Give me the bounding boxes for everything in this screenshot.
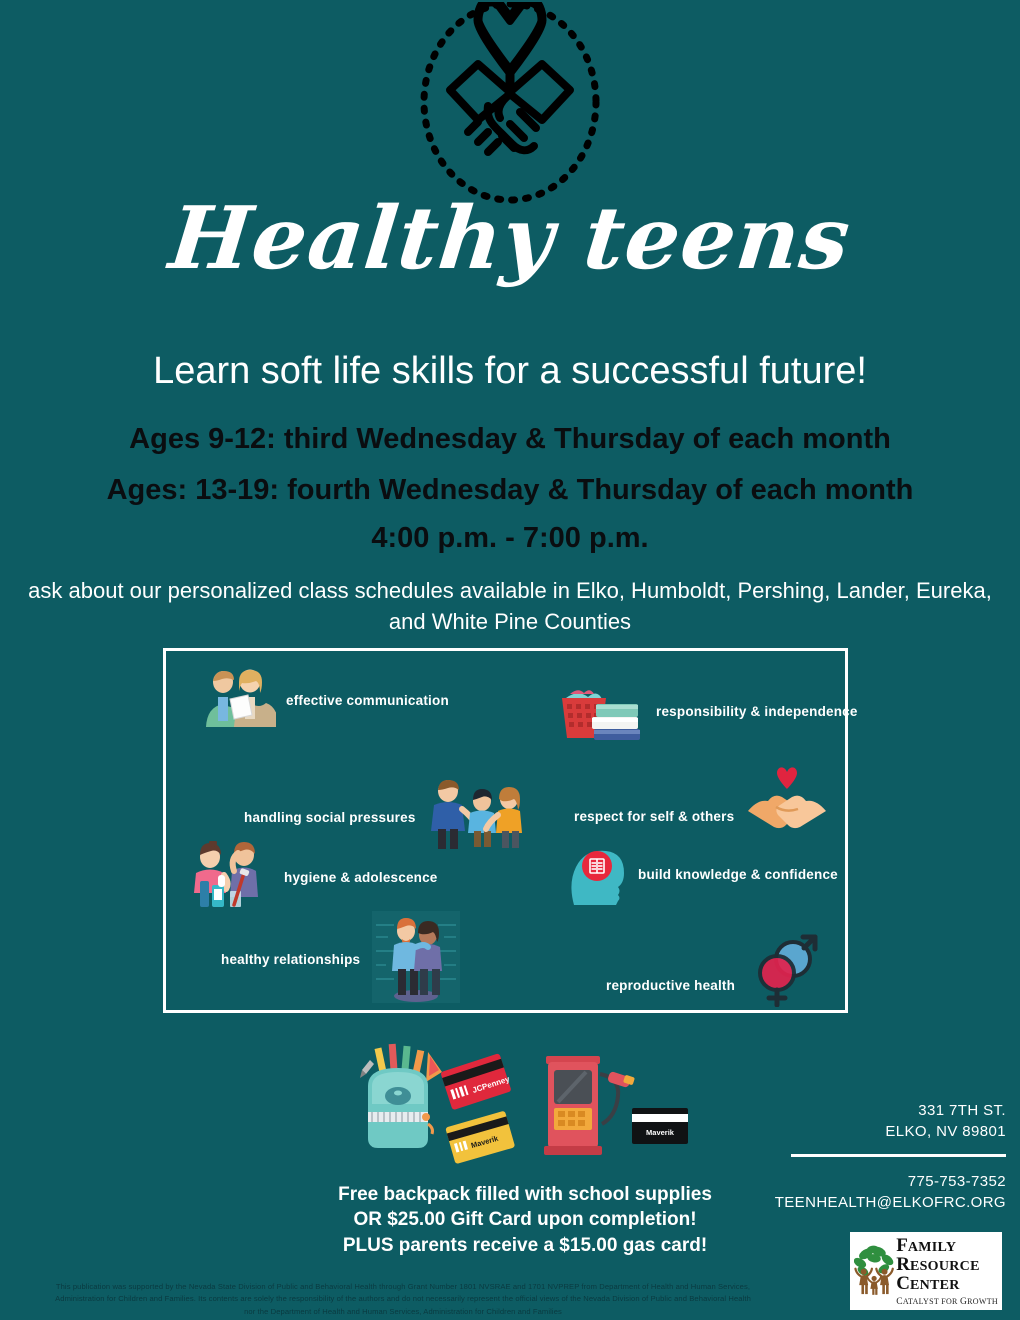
street-address: 331 7TH ST.	[746, 1100, 1006, 1121]
head-with-book-brain-icon	[564, 839, 626, 910]
disclaimer-line-2: Administration for Children and Families…	[18, 1293, 788, 1305]
topic-reproductive-health: reproductive health	[606, 943, 821, 1028]
phone-number[interactable]: 775-753-7352	[746, 1171, 1006, 1193]
topic-build-knowledge-confidence: build knowledge & confidence	[564, 839, 838, 910]
frc-line-center: CENTER	[896, 1274, 998, 1293]
email-address[interactable]: TEENHEALTH@ELKOFRC.ORG	[746, 1192, 1006, 1214]
divider	[791, 1154, 1006, 1157]
schedule-line-2: Ages: 13-19: fourth Wednesday & Thursday…	[0, 474, 1020, 507]
schedule-line-1: Ages 9-12: third Wednesday & Thursday of…	[0, 423, 1020, 456]
topic-label: responsibility & independence	[656, 704, 858, 719]
topic-responsibility-independence: responsibility & independence	[558, 678, 858, 745]
couple-standing-together-icon	[372, 911, 460, 1008]
contact-block: 331 7TH ST. ELKO, NV 89801 775-753-7352 …	[746, 1100, 1006, 1214]
handshake-with-heart-icon	[746, 767, 828, 838]
counties-note: ask about our personalized class schedul…	[14, 575, 1006, 637]
page-title: Healthy teens	[0, 196, 1020, 282]
laundry-basket-and-folded-towels-icon	[558, 678, 646, 745]
frc-tagline: CATALYST FOR GROWTH	[896, 1297, 998, 1307]
heart-over-handshake-in-dotted-oval-icon	[360, 2, 660, 207]
tagline: Learn soft life skills for a successful …	[0, 350, 1020, 393]
male-female-gender-symbols-icon	[749, 927, 821, 1012]
frc-wordmark: FAMILY RESOURCE CENTER CATALYST FOR GROW…	[896, 1236, 998, 1307]
family-tree-logo-icon	[854, 1238, 894, 1304]
topics-box: effective communication	[163, 648, 848, 1013]
grant-disclaimer: This publication was supported by the Ne…	[18, 1281, 788, 1318]
topic-hygiene-adolescence: hygiene & adolescence	[188, 841, 438, 914]
topic-label: effective communication	[286, 693, 449, 708]
three-teens-group-icon	[426, 779, 526, 856]
backpack-giftcards-gaspump-illustration: JCPenney Maverik	[350, 1040, 690, 1165]
two-people-with-document-icon	[198, 669, 276, 732]
schedule-time: 4:00 p.m. - 7:00 p.m.	[0, 522, 1020, 555]
family-resource-center-logo: FAMILY RESOURCE CENTER CATALYST FOR GROW…	[850, 1232, 1002, 1310]
frc-line-resource: RESOURCE	[896, 1255, 998, 1274]
frc-line-family: FAMILY	[896, 1236, 998, 1255]
topic-label: handling social pressures	[244, 810, 416, 825]
teens-with-hygiene-products-icon	[188, 841, 274, 914]
disclaimer-line-3: nor the Department of Health and Human S…	[18, 1306, 788, 1318]
topic-label: reproductive health	[606, 978, 735, 993]
logo-area	[0, 0, 1020, 210]
rewards-line-3: PLUS parents receive a $15.00 gas card!	[190, 1233, 860, 1258]
topic-label: respect for self & others	[574, 809, 734, 824]
topic-label: healthy relationships	[221, 952, 360, 967]
topic-healthy-relationships: healthy relationships	[221, 911, 460, 1008]
city-state-zip: ELKO, NV 89801	[746, 1121, 1006, 1142]
gas-card-brand-label: Maverik	[646, 1128, 675, 1137]
topic-label: build knowledge & confidence	[638, 867, 838, 882]
disclaimer-line-1: This publication was supported by the Ne…	[18, 1281, 788, 1293]
topic-label: hygiene & adolescence	[284, 870, 438, 885]
topic-effective-communication: effective communication	[198, 669, 449, 732]
rewards-illustration: JCPenney Maverik	[350, 1040, 690, 1165]
